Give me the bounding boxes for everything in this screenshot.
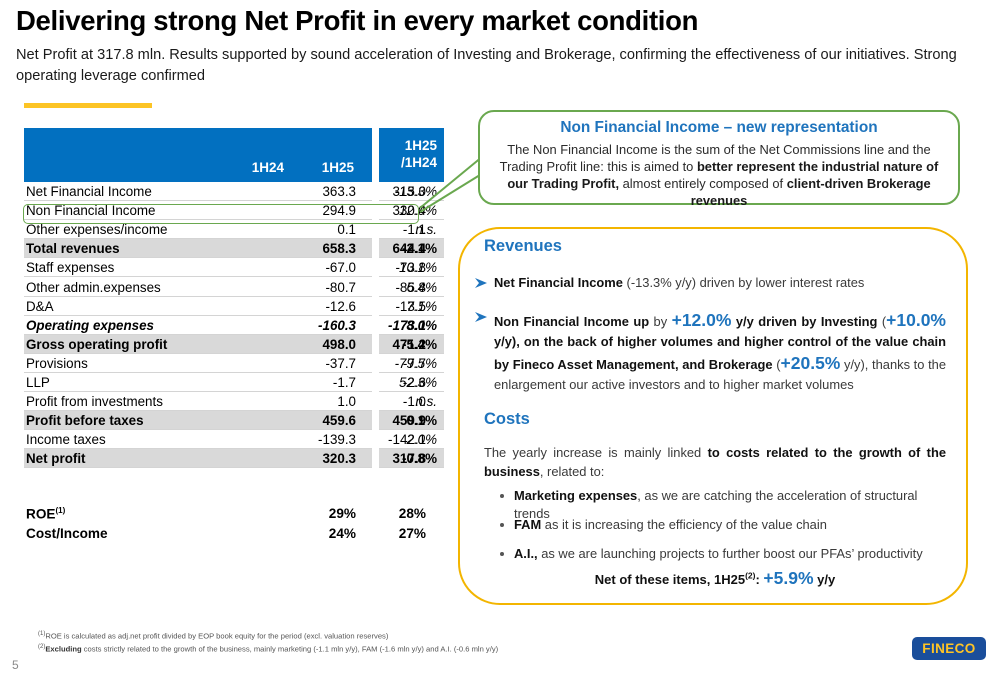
row-value-1h24: 498.0: [286, 335, 356, 354]
title-accent-bar: [24, 103, 152, 108]
costs-intro-1: The yearly increase is mainly linked: [484, 445, 708, 460]
column-header-1h25: 1H25: [294, 160, 354, 175]
row-value-variance: 0.1%: [379, 411, 437, 430]
costs-b3-bold: A.I.,: [514, 546, 538, 561]
rev-b2-bold-2: Investing: [821, 314, 878, 329]
row-value-variance: 8.0%: [379, 316, 437, 335]
rev-b2-t5: (: [773, 357, 781, 372]
page-subtitle: Net Profit at 317.8 mln. Results support…: [16, 45, 971, 86]
costs-intro-text: The yearly increase is mainly linked to …: [484, 444, 946, 482]
ratio-value-1h25: 27%: [356, 526, 426, 541]
callout-text-2: almost entirely composed of: [619, 176, 787, 191]
row-value-1h24: -160.3: [286, 316, 356, 335]
row-value-1h24: 320.3: [286, 449, 356, 468]
row-value-variance: n.s.: [379, 392, 437, 411]
row-value-1h24: -80.7: [286, 277, 356, 296]
row-value-1h24: 1.0: [286, 392, 356, 411]
slide-root: Delivering strong Net Profit in every ma…: [0, 0, 1000, 685]
rev-b2-bold-1: Non Financial Income up: [494, 314, 649, 329]
row-value-1h24: -12.6: [286, 297, 356, 316]
dot-bullet-icon: [500, 523, 504, 527]
table-row: Non Financial Income294.9330.412.0%: [24, 201, 444, 220]
rev-b2-bold-3: Brokerage: [709, 357, 773, 372]
page-title: Delivering strong Net Profit in every ma…: [16, 6, 976, 37]
row-label: Income taxes: [26, 430, 106, 449]
row-value-1h24: 363.3: [286, 182, 356, 201]
row-value-variance: 7.1%: [379, 297, 437, 316]
footnote-1: (1)ROE is calculated as adj.net profit d…: [38, 630, 658, 643]
costs-bullet-3: A.I., as we are launching projects to fu…: [514, 545, 954, 563]
table-row: LLP-1.7-2.652.3%: [24, 373, 444, 392]
net-items-label: Net of these items, 1H25: [595, 572, 745, 587]
footnote-2-text: costs strictly related to the growth of …: [82, 644, 499, 653]
revenues-bullet-2: Non Financial Income up by +12.0% y/y dr…: [494, 308, 946, 394]
dot-bullet-icon: [500, 494, 504, 498]
row-value-1h24: 658.3: [286, 239, 356, 258]
row-value-variance: -0.8%: [379, 449, 437, 468]
table-row: Total revenues658.3644.4-2.1%: [24, 239, 444, 258]
costs-b2-bold: FAM: [514, 517, 541, 532]
row-value-variance: 10.1%: [379, 258, 437, 277]
row-value-variance: -79.5%: [379, 354, 437, 373]
ratio-row: ROE(1)29%28%: [24, 506, 444, 526]
costs-b3-rest: as we are launching projects to further …: [538, 546, 923, 561]
table-header-main-band: 1H24 1H25: [24, 128, 372, 182]
pnl-table: 1H24 1H25 1H25 /1H24 Net Financial Incom…: [24, 128, 444, 468]
net-items-footnote: (2): [745, 571, 755, 581]
table-row: Other admin.expenses-80.7-85.86.4%: [24, 277, 444, 296]
rev-b2-t3: (: [877, 314, 886, 329]
table-row: Profit from investments1.0-1.0n.s.: [24, 392, 444, 411]
table-row: Net Financial Income363.3315.0-13.3%: [24, 182, 444, 201]
row-label: Profit from investments: [26, 392, 163, 411]
revenues-bullet-1: Net Financial Income (-13.3% y/y) driven…: [494, 274, 946, 292]
row-value-variance: -5.4%: [379, 335, 437, 354]
net-items-suffix: y/y: [814, 572, 836, 587]
row-label: Non Financial Income: [26, 201, 156, 220]
dot-bullet-icon: [500, 552, 504, 556]
table-row: Operating expenses-160.3-173.18.0%: [24, 316, 444, 335]
footnote-1-text: ROE is calculated as adj.net profit divi…: [45, 632, 388, 641]
row-value-1h24: -139.3: [286, 430, 356, 449]
ratio-row: Cost/Income24%27%: [24, 526, 444, 546]
revenues-section-title: Revenues: [484, 237, 562, 256]
row-value-variance: n.s.: [379, 220, 437, 239]
ratio-value-1h24: 24%: [286, 526, 356, 541]
footnote-2: (2)Excluding costs strictly related to t…: [38, 643, 658, 656]
rev-b1-rest: (-13.3% y/y) driven by lower interest ra…: [623, 275, 864, 290]
row-value-1h24: -1.7: [286, 373, 356, 392]
costs-bullet-2: FAM as it is increasing the efficiency o…: [514, 516, 954, 534]
rev-b2-t2: y/y driven by: [731, 314, 820, 329]
callout-body: The Non Financial Income is the sum of t…: [494, 141, 944, 210]
row-value-variance: 2.0%: [379, 430, 437, 449]
ratios-block: ROE(1)29%28%Cost/Income24%27%: [24, 506, 444, 545]
row-value-1h24: 0.1: [286, 220, 356, 239]
fineco-logo: FINECO: [912, 637, 986, 660]
row-label: Net profit: [26, 449, 86, 468]
costs-intro-2: , related to:: [540, 464, 605, 479]
row-label: Provisions: [26, 354, 88, 373]
rev-pct-brokerage: +20.5%: [781, 353, 841, 373]
rev-pct-nfi: +12.0%: [672, 310, 732, 330]
footnote-2-bold: Excluding: [45, 644, 81, 653]
row-value-variance: 6.4%: [379, 277, 437, 296]
row-label: D&A: [26, 297, 54, 316]
row-value-1h24: -37.7: [286, 354, 356, 373]
footnotes: (1)ROE is calculated as adj.net profit d…: [38, 630, 658, 656]
ratio-value-1h24: 29%: [286, 506, 356, 521]
row-label: Profit before taxes: [26, 411, 144, 430]
table-header: 1H24 1H25 1H25 /1H24: [24, 128, 444, 182]
table-row: D&A-12.6-13.57.1%: [24, 297, 444, 316]
rev-b1-bold: Net Financial Income: [494, 275, 623, 290]
table-row: Income taxes-139.3-142.12.0%: [24, 430, 444, 449]
costs-b1-bold: Marketing expenses: [514, 488, 637, 503]
row-label: Net Financial Income: [26, 182, 152, 201]
row-label: Other expenses/income: [26, 220, 167, 239]
callout-title: Non Financial Income – new representatio…: [494, 119, 944, 137]
ratio-label: Cost/Income: [26, 526, 108, 541]
row-label: Other admin.expenses: [26, 277, 161, 296]
table-row: Gross operating profit498.0471.2-5.4%: [24, 335, 444, 354]
table-row: Other expenses/income0.1-1.1n.s.: [24, 220, 444, 239]
row-value-1h24: 294.9: [286, 201, 356, 220]
row-label: LLP: [26, 373, 50, 392]
net-items-pct: +5.9%: [763, 568, 813, 588]
row-value-1h24: -67.0: [286, 258, 356, 277]
table-row: Net profit320.3317.8-0.8%: [24, 449, 444, 468]
table-row: Provisions-37.7-7.7-79.5%: [24, 354, 444, 373]
costs-summary-line: Net of these items, 1H25(2): +5.9% y/y: [484, 568, 946, 589]
row-label: Staff expenses: [26, 258, 114, 277]
costs-b2-rest: as it is increasing the efficiency of th…: [541, 517, 827, 532]
page-number: 5: [12, 658, 19, 672]
ratio-footnote-marker: (1): [55, 506, 65, 515]
ratio-value-1h25: 28%: [356, 506, 426, 521]
rev-b2-t1: by: [649, 314, 671, 329]
arrow-bullet-icon: [474, 310, 490, 324]
row-label: Total revenues: [26, 239, 120, 258]
row-value-1h24: 459.6: [286, 411, 356, 430]
table-row: Profit before taxes459.6459.90.1%: [24, 411, 444, 430]
rev-pct-investing: +10.0%: [886, 310, 946, 330]
row-value-variance: 52.3%: [379, 373, 437, 392]
row-label: Operating expenses: [26, 316, 154, 335]
table-body: Net Financial Income363.3315.0-13.3%Non …: [24, 182, 444, 468]
ratio-label: ROE(1): [26, 506, 65, 522]
column-header-1h24: 1H24: [224, 160, 284, 175]
costs-section-title: Costs: [484, 410, 530, 429]
table-row: Staff expenses-67.0-73.810.1%: [24, 258, 444, 277]
arrow-bullet-icon: [474, 276, 490, 290]
green-callout-box: Non Financial Income – new representatio…: [478, 110, 960, 205]
row-label: Gross operating profit: [26, 335, 167, 354]
row-value-variance: -2.1%: [379, 239, 437, 258]
